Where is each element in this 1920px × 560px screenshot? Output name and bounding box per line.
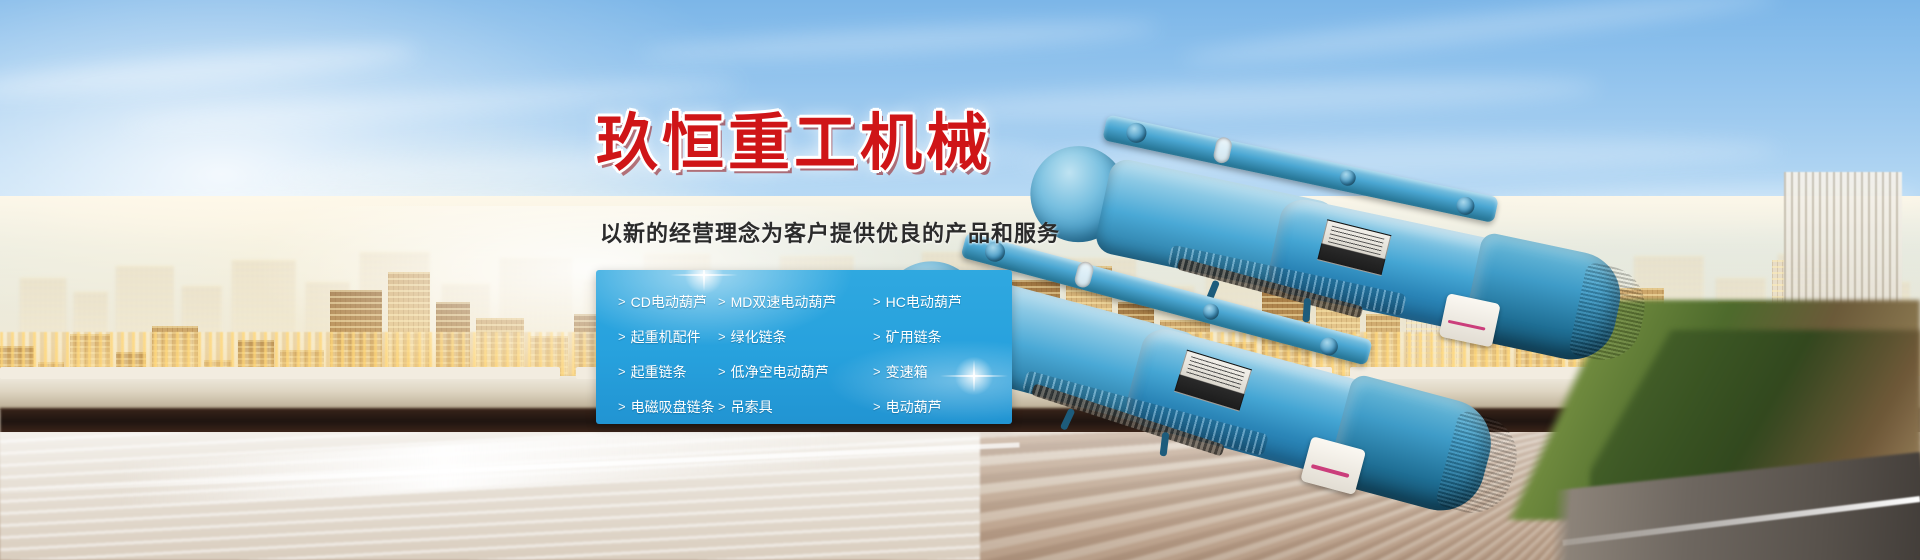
chevron-right-icon: > [873,364,881,379]
product-link-label: CD电动葫芦 [631,292,707,312]
chevron-right-icon: > [873,399,881,414]
product-link-mining-chain[interactable]: > 矿用链条 [873,327,1012,347]
chevron-right-icon: > [873,329,881,344]
product-link-label: 变速箱 [886,362,928,382]
product-link-label: 矿用链条 [886,327,942,347]
product-link-electric-hoist[interactable]: > 电动葫芦 [873,397,1012,417]
product-link-lifting-chain[interactable]: > 起重链条 [618,362,718,382]
product-link-label: HC电动葫芦 [886,292,962,312]
product-link-greening-chain[interactable]: > 绿化链条 [718,327,873,347]
product-link-label: 吊索具 [731,397,773,417]
product-link-low-headroom-hoist[interactable]: > 低净空电动葫芦 [718,362,873,382]
chevron-right-icon: > [718,329,726,344]
chevron-right-icon: > [718,294,726,309]
product-link-magnetic-chuck-chain[interactable]: > 电磁吸盘链条 [618,397,718,417]
product-link-row: > 起重机配件 > 绿化链条 > 矿用链条 [596,321,1012,352]
page-subtitle: 以新的经营理念为客户提供优良的产品和服务 [600,216,1060,248]
product-link-label: 起重机配件 [631,327,701,347]
product-link-label: 电动葫芦 [886,397,942,417]
product-link-gearbox[interactable]: > 变速箱 [873,362,1012,382]
product-link-hc-hoist[interactable]: > HC电动葫芦 [873,292,1012,312]
chevron-right-icon: > [618,294,626,309]
page-title: 玖恒重工机械 [596,112,992,174]
product-link-row: > 起重链条 > 低净空电动葫芦 > 变速箱 [596,356,1012,387]
product-link-label: 绿化链条 [731,327,787,347]
product-link-md-dual-speed-hoist[interactable]: > MD双速电动葫芦 [718,292,873,312]
chevron-right-icon: > [718,399,726,414]
product-link-label: 起重链条 [631,362,687,382]
chevron-right-icon: > [718,364,726,379]
product-link-row: > 电磁吸盘链条 > 吊索具 > 电动葫芦 [596,391,1012,422]
product-link-label: 低净空电动葫芦 [731,362,829,382]
product-link-crane-parts[interactable]: > 起重机配件 [618,327,718,347]
hero-banner: 玖恒重工机械 以新的经营理念为客户提供优良的产品和服务 > CD电动葫芦 > [0,0,1920,560]
chevron-right-icon: > [618,329,626,344]
product-link-label: MD双速电动葫芦 [731,292,837,312]
chevron-right-icon: > [618,399,626,414]
product-link-row: > CD电动葫芦 > MD双速电动葫芦 > HC电动葫芦 [596,286,1012,317]
chevron-right-icon: > [873,294,881,309]
product-links-panel: > CD电动葫芦 > MD双速电动葫芦 > HC电动葫芦 [596,270,1012,424]
product-link-cd-hoist[interactable]: > CD电动葫芦 [618,292,718,312]
chevron-right-icon: > [618,364,626,379]
product-link-label: 电磁吸盘链条 [631,397,715,417]
product-link-lifting-slings[interactable]: > 吊索具 [718,397,873,417]
